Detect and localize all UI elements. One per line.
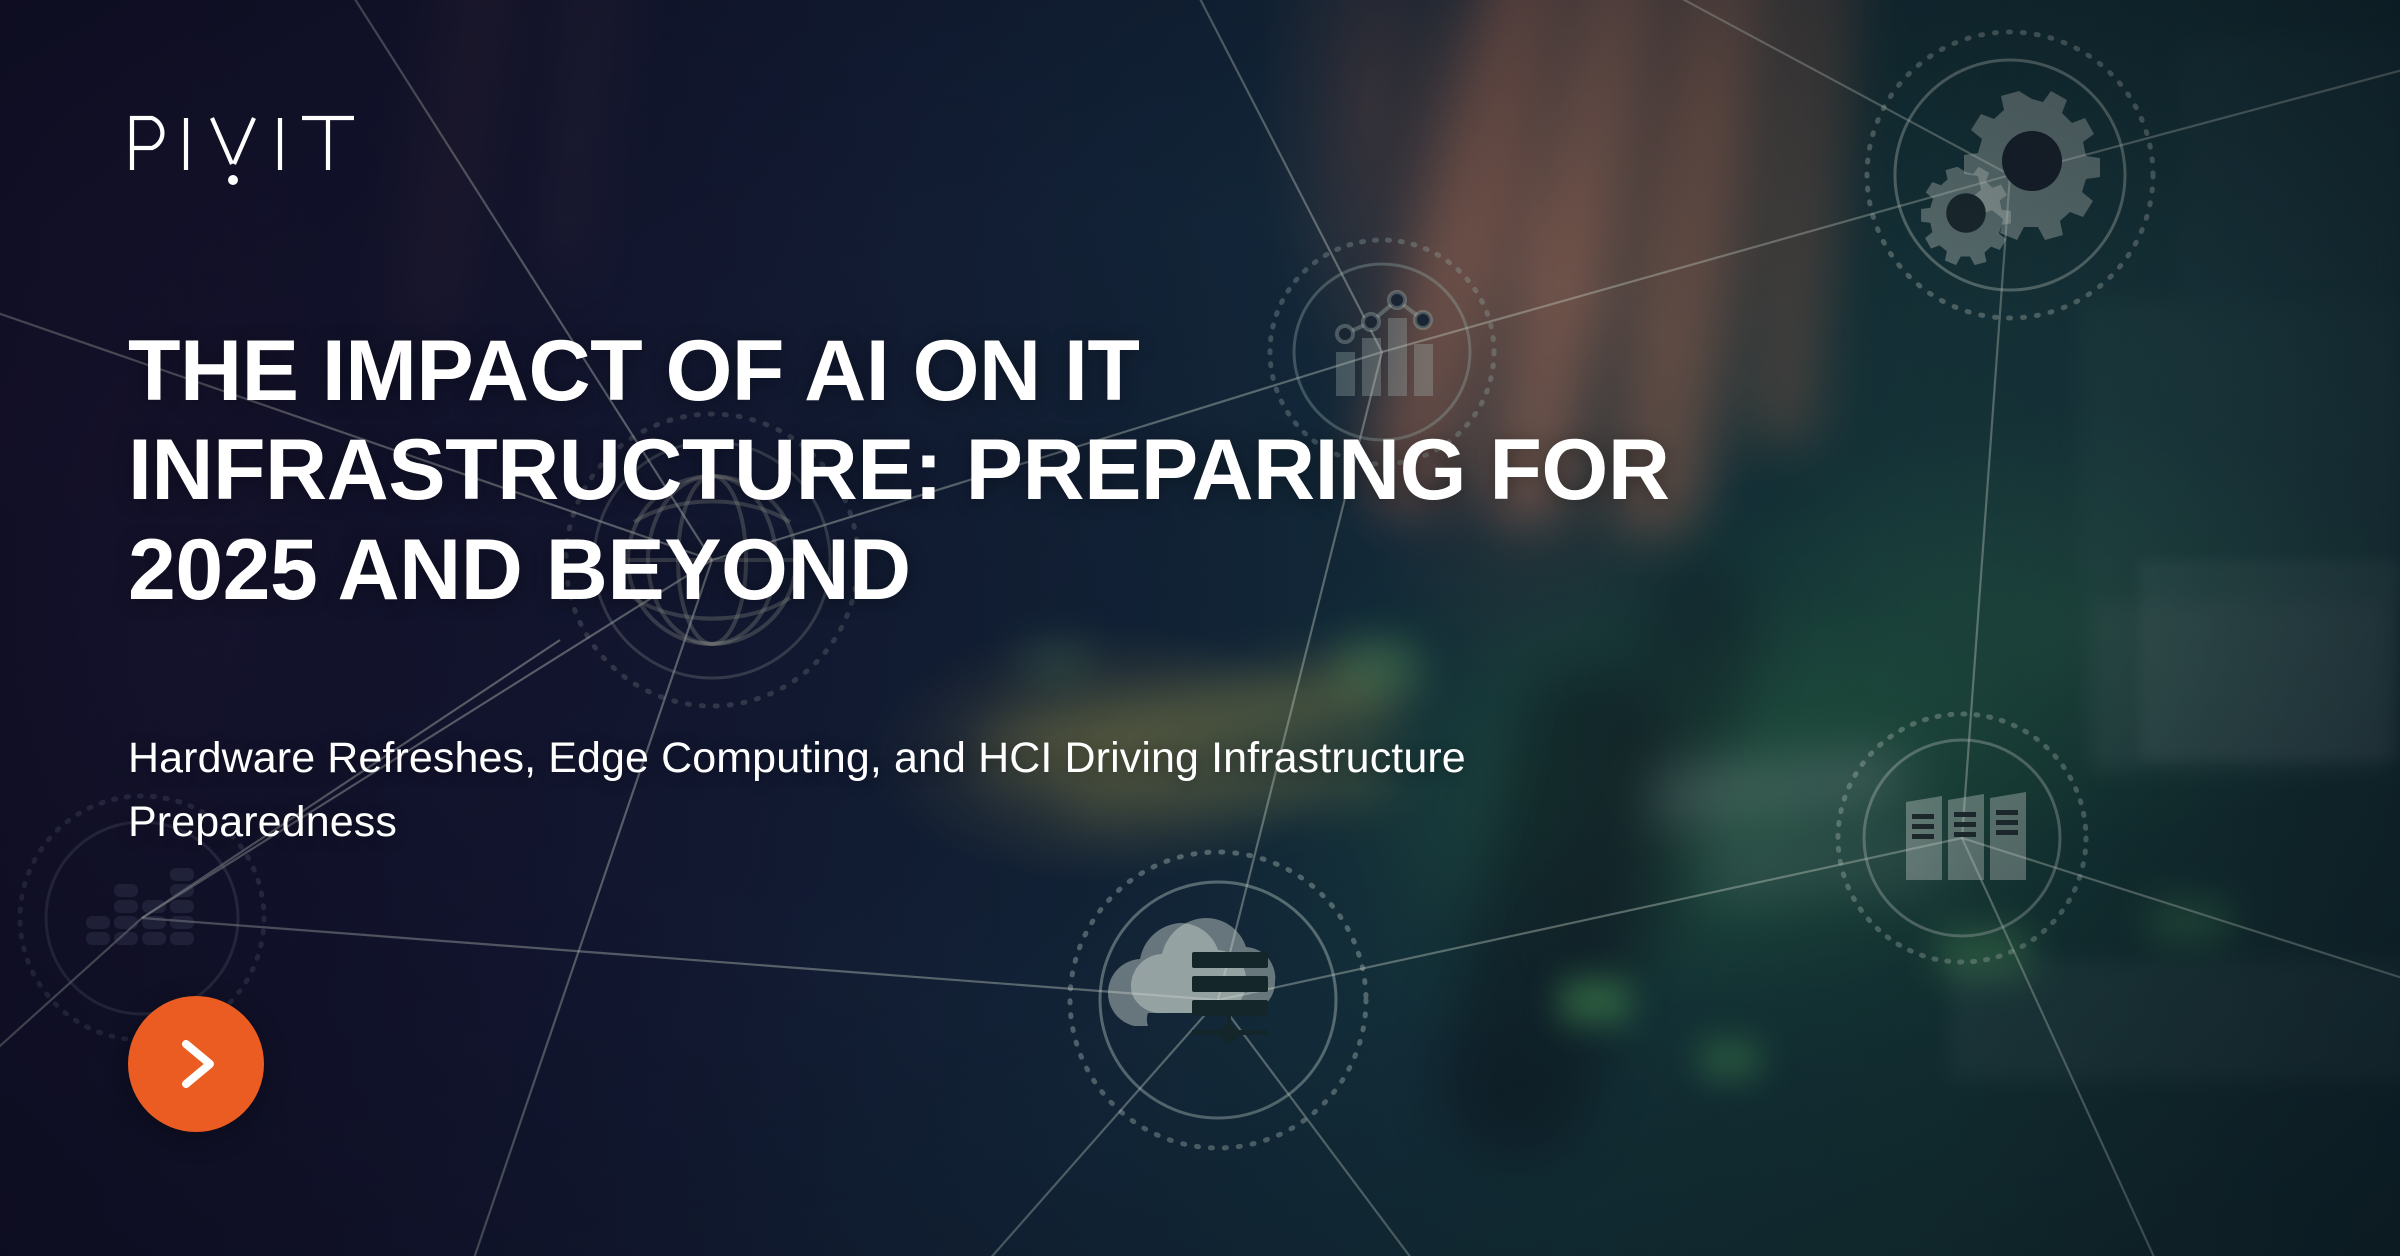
hero-content: THE IMPACT OF AI ON IT INFRASTRUCTURE: P… (128, 0, 1908, 1256)
pivit-logo-mark (128, 112, 358, 186)
cta-arrow-button[interactable] (128, 996, 264, 1132)
page-subtitle: Hardware Refreshes, Edge Computing, and … (128, 727, 1648, 854)
pivit-logo[interactable] (128, 112, 358, 184)
pivit-logo-dot (228, 175, 238, 185)
chevron-right-icon (170, 1035, 222, 1093)
hero-banner: THE IMPACT OF AI ON IT INFRASTRUCTURE: P… (0, 0, 2400, 1256)
page-title: THE IMPACT OF AI ON IT INFRASTRUCTURE: P… (128, 322, 1848, 620)
